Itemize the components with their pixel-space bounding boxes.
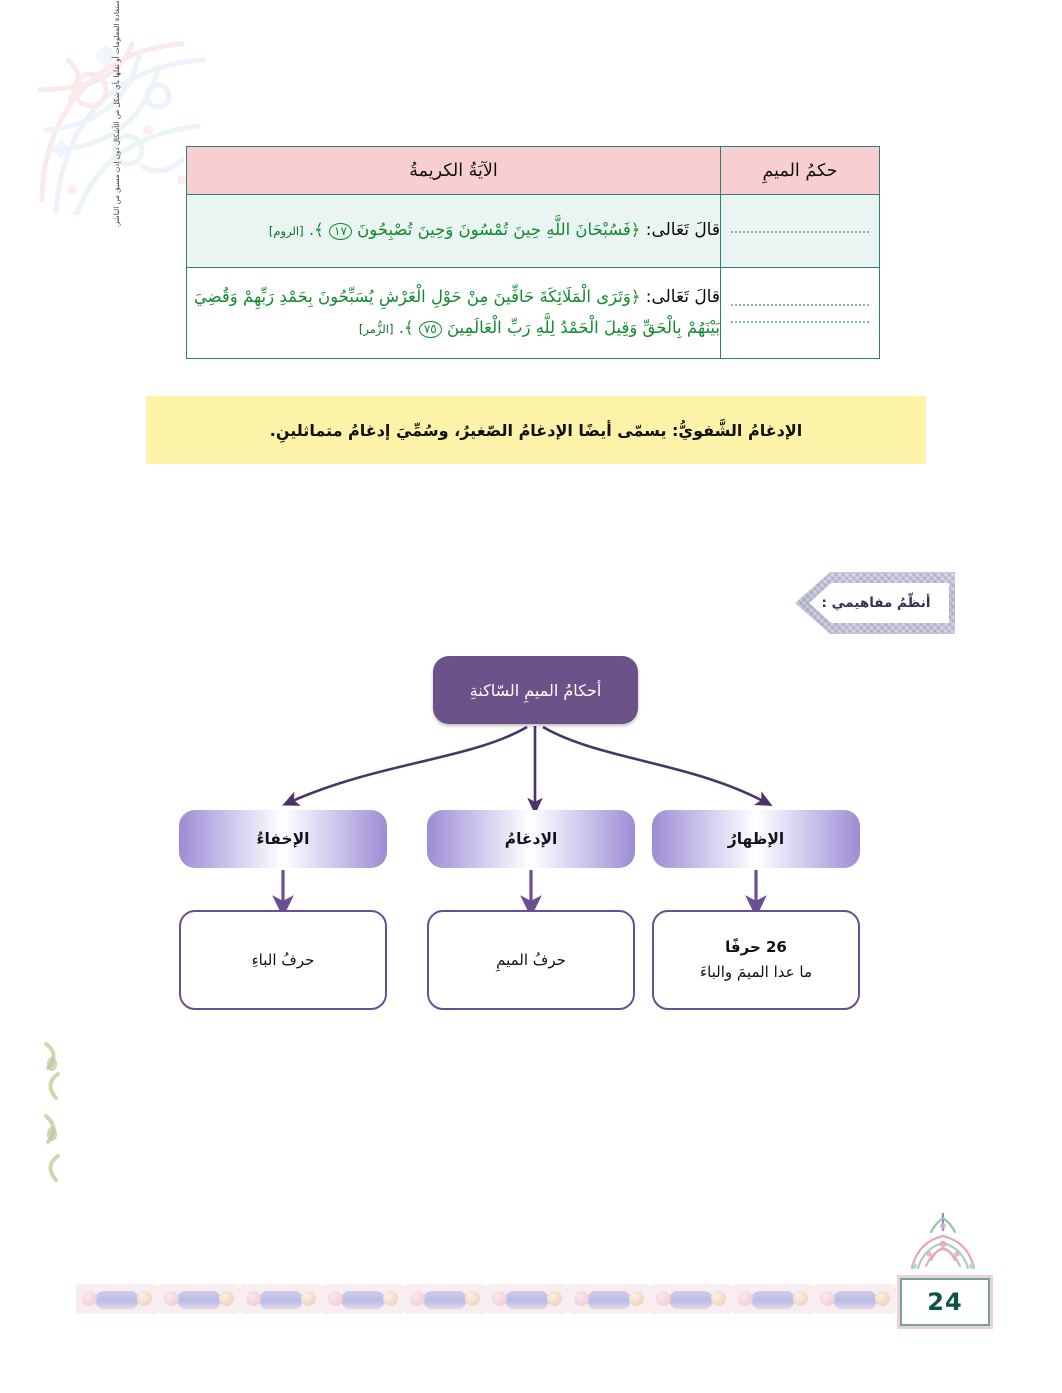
header-ruling: حكمُ الميمِ <box>721 147 880 195</box>
concept-branch-node-izhar: الإظهارُ <box>652 810 860 868</box>
concept-root-label: أحكامُ الميمِ السّاكنةِ <box>470 681 602 700</box>
verse-close-2: ﴾. <box>399 318 414 337</box>
branch-label-2: الإدغامُ <box>505 830 558 848</box>
info-highlight-band: الإدغامُ الشَّفويُّ: يسمّى أيضًا الإدغام… <box>146 396 926 464</box>
leaf-side-ornament <box>40 1030 66 1210</box>
verse-ruling-table: حكمُ الميمِ الآيَةُ الكريمةُ قالَ تَعَال… <box>186 146 880 359</box>
border-unit <box>240 1284 322 1314</box>
verse-cell-2: قالَ تَعَالى: ﴿وَتَرَى الْمَلَائِكَةَ حَ… <box>187 268 721 359</box>
verse-text-1: ﴿فَسُبْحَانَ اللَّهِ حِينَ تُمْسُونَ وَح… <box>357 220 640 239</box>
ayah-number-2: ٧٥ <box>419 321 442 338</box>
border-unit <box>732 1284 814 1314</box>
verse-lead-1: قالَ تَعَالى: <box>646 220 720 240</box>
table-row: قالَ تَعَالى: ﴿وَتَرَى الْمَلَائِكَةَ حَ… <box>187 268 880 359</box>
banner-inner: أنظّمُ مفاهيمي : <box>809 583 949 623</box>
verse-cell-1: قالَ تَعَالى: ﴿فَسُبْحَانَ اللَّهِ حِينَ… <box>187 195 721 268</box>
concept-detail-node-ikhfaa: حرفُ الباءِ <box>179 910 387 1010</box>
concept-detail-node-idgham: حرفُ الميمِ <box>427 910 635 1010</box>
answer-dotted-line[interactable] <box>731 230 869 233</box>
verse-text-2: ﴿وَتَرَى الْمَلَائِكَةَ حَافِّينَ مِنْ ح… <box>194 287 720 337</box>
detail-label-1a: حرفُ الباءِ <box>252 948 315 973</box>
table-header-row: حكمُ الميمِ الآيَةُ الكريمةُ <box>187 147 880 195</box>
table-row: قالَ تَعَالى: ﴿فَسُبْحَانَ اللَّهِ حِينَ… <box>187 195 880 268</box>
detail-label-3a: 26 حرفًا <box>725 935 787 960</box>
verse-close-1: ﴾. <box>309 220 324 239</box>
answer-cell-1[interactable] <box>721 195 880 268</box>
textbook-page: جميع الحقوق © محفوظة لوزارة التربية والت… <box>0 0 1062 1393</box>
verse-lead-2: قالَ تَعَالى: <box>646 287 720 307</box>
concept-banner-label: أنظّمُ مفاهيمي : <box>822 595 937 611</box>
surah-ref-2: [الزُّمر] <box>359 322 394 336</box>
concept-banner: أنظّمُ مفاهيمي : <box>795 572 955 634</box>
border-unit <box>486 1284 568 1314</box>
ayah-number-1: ١٧ <box>329 223 352 240</box>
answer-dotted-line[interactable] <box>731 303 869 306</box>
header-verse: الآيَةُ الكريمةُ <box>187 147 721 195</box>
detail-label-3b: ما عدا الميمَ والباءَ <box>700 960 812 985</box>
page-number-plaque: 24 <box>900 1278 990 1326</box>
decorative-border-strip <box>44 1283 896 1315</box>
border-unit <box>404 1284 486 1314</box>
border-unit <box>322 1284 404 1314</box>
branch-label-1: الإخفاءُ <box>257 830 310 848</box>
border-unit <box>650 1284 732 1314</box>
border-unit <box>76 1284 158 1314</box>
border-unit <box>814 1284 896 1314</box>
detail-label-2a: حرفُ الميمِ <box>496 948 566 973</box>
page-number: 24 <box>927 1288 962 1316</box>
border-unit <box>158 1284 240 1314</box>
surah-ref-1: [الروم] <box>269 224 304 238</box>
copyright-notice: جميع الحقوق © محفوظة لوزارة التربية والت… <box>106 0 128 352</box>
answer-cell-2[interactable] <box>721 268 880 359</box>
concept-branch-node-ikhfaa: الإخفاءُ <box>179 810 387 868</box>
answer-dotted-line[interactable] <box>731 320 869 323</box>
floral-crown-ornament <box>898 1210 988 1280</box>
border-unit <box>568 1284 650 1314</box>
copyright-text: جميع الحقوق © محفوظة لوزارة التربية والت… <box>106 0 128 352</box>
concept-branch-node-idgham: الإدغامُ <box>427 810 635 868</box>
branch-label-3: الإظهارُ <box>728 830 784 848</box>
concept-root-node: أحكامُ الميمِ السّاكنةِ <box>433 656 638 724</box>
concept-detail-node-izhar: 26 حرفًا ما عدا الميمَ والباءَ <box>652 910 860 1010</box>
info-band-text: الإدغامُ الشَّفويُّ: يسمّى أيضًا الإدغام… <box>246 421 826 440</box>
